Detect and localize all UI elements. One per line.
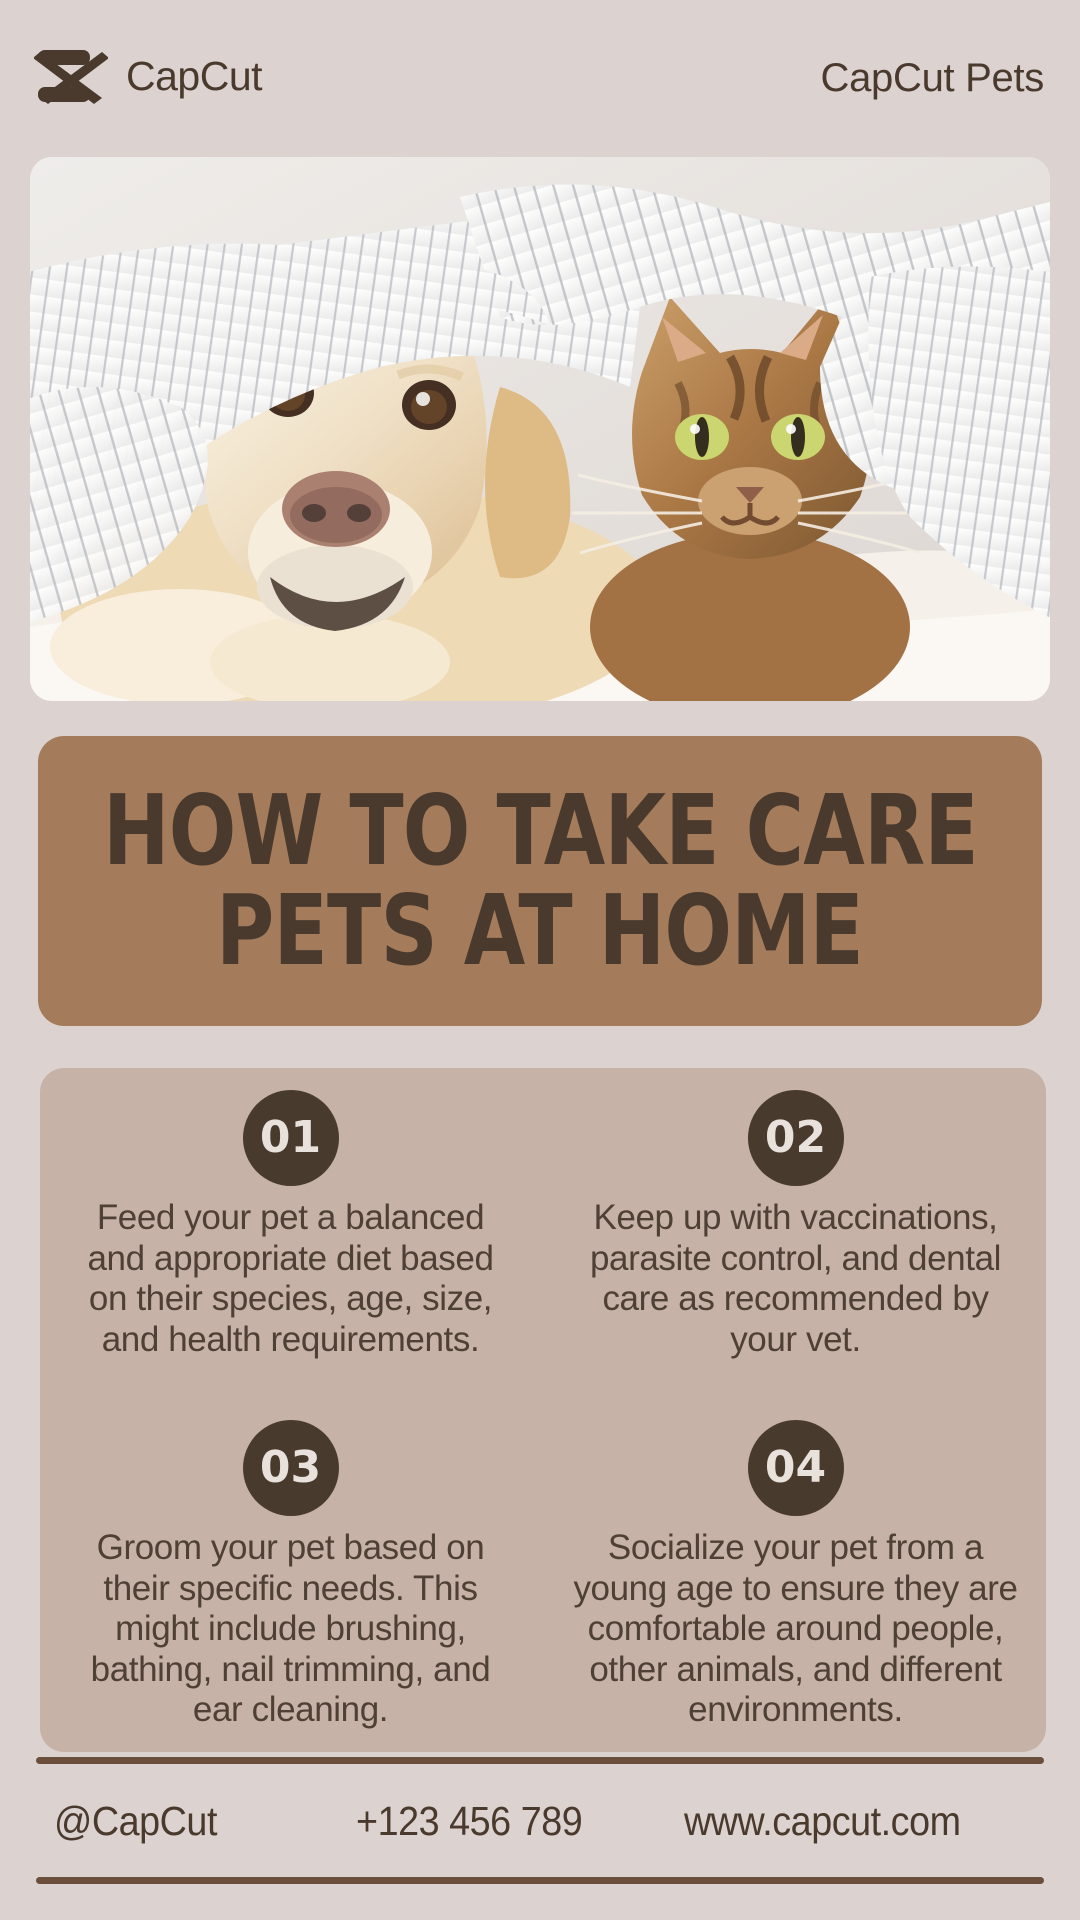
tip-text-04: Socialize your pet from a young age to e…: [571, 1528, 1020, 1731]
footer-website[interactable]: www.capcut.com: [684, 1788, 961, 1854]
tips-card: 01 Feed your pet a balanced and appropri…: [40, 1068, 1046, 1752]
tip-text-02: Keep up with vaccinations, parasite cont…: [571, 1198, 1020, 1360]
page-title-line-1: HOW TO TAKE CARE: [103, 781, 978, 881]
footer-social-handle[interactable]: @CapCut: [54, 1788, 217, 1854]
tip-number-badge-03: 03: [243, 1420, 339, 1516]
footer-divider-bottom: [36, 1877, 1044, 1884]
brand-lockup[interactable]: CapCut: [34, 48, 262, 104]
tip-number-04: 04: [765, 1446, 826, 1490]
tip-number-badge-04: 04: [748, 1420, 844, 1516]
footer: @CapCut +123 456 789 www.capcut.com: [36, 1788, 1044, 1854]
page-title-line-2: PETS AT HOME: [216, 881, 863, 981]
capcut-logo-icon: [34, 48, 108, 104]
tip-item-01: 01 Feed your pet a balanced and appropri…: [40, 1068, 543, 1410]
tip-number-01: 01: [260, 1116, 321, 1160]
infographic-poster: CapCut CapCut Pets: [0, 0, 1080, 1920]
tip-number-03: 03: [260, 1446, 321, 1490]
tip-number-02: 02: [765, 1116, 826, 1160]
hero-photo: [30, 157, 1050, 701]
header-right-label: CapCut Pets: [821, 56, 1044, 101]
tip-text-01: Feed your pet a balanced and appropriate…: [66, 1198, 515, 1360]
footer-divider-top: [36, 1757, 1044, 1764]
tip-number-badge-02: 02: [748, 1090, 844, 1186]
footer-phone-number[interactable]: +123 456 789: [356, 1788, 582, 1854]
tip-item-02: 02 Keep up with vaccinations, parasite c…: [543, 1068, 1046, 1410]
tip-number-badge-01: 01: [243, 1090, 339, 1186]
header: CapCut CapCut Pets: [0, 0, 1080, 150]
tips-grid: 01 Feed your pet a balanced and appropri…: [40, 1068, 1046, 1752]
title-banner: HOW TO TAKE CARE PETS AT HOME: [38, 736, 1042, 1026]
brand-name: CapCut: [126, 56, 262, 97]
tip-text-03: Groom your pet based on their specific n…: [66, 1528, 515, 1731]
tip-item-03: 03 Groom your pet based on their specifi…: [40, 1410, 543, 1752]
tip-item-04: 04 Socialize your pet from a young age t…: [543, 1410, 1046, 1752]
